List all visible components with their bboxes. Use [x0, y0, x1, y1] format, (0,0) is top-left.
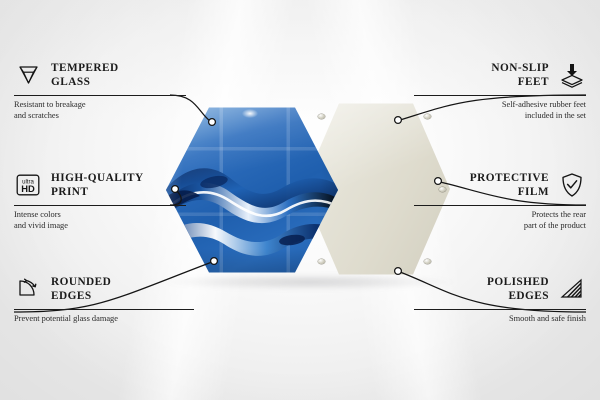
feature-divider	[414, 95, 586, 96]
shield-check-icon	[558, 171, 586, 199]
feature-title: HIGH-QUALITYPRINT	[51, 171, 144, 200]
mount-hole	[424, 259, 431, 264]
feature-title: TEMPEREDGLASS	[51, 61, 119, 90]
svg-text:HD: HD	[21, 183, 35, 194]
feature-description: Resistant to breakageand scratches	[14, 99, 186, 122]
diamond-icon	[14, 61, 42, 89]
feature-high-quality-print[interactable]: ultra HD HIGH-QUALITYPRINT Intense color…	[14, 168, 186, 232]
stacked-pads-arrow-icon	[558, 61, 586, 89]
feature-tempered-glass[interactable]: TEMPEREDGLASS Resistant to breakageand s…	[14, 58, 186, 122]
feature-divider	[14, 205, 186, 206]
feature-title: NON-SLIPFEET	[491, 61, 549, 90]
feature-polished-edges[interactable]: POLISHEDEDGES Smooth and safe finish	[414, 272, 586, 324]
feature-title: POLISHEDEDGES	[487, 275, 549, 304]
feature-description: Intense colorsand vivid image	[14, 209, 186, 232]
feature-title: PROTECTIVEFILM	[470, 171, 549, 200]
ultra-hd-badge-icon: ultra HD	[14, 171, 42, 199]
feature-description: Smooth and safe finish	[414, 313, 586, 324]
feature-header: ultra HD HIGH-QUALITYPRINT	[14, 168, 186, 202]
feature-header: PROTECTIVEFILM	[414, 168, 586, 202]
feature-divider	[14, 309, 194, 310]
feature-header: TEMPEREDGLASS	[14, 58, 186, 92]
hatched-triangle-icon	[558, 275, 586, 303]
feature-description: Protects the rearpart of the product	[414, 209, 586, 232]
rounded-corner-icon	[14, 275, 42, 303]
feature-header: POLISHEDEDGES	[414, 272, 586, 306]
feature-divider	[414, 205, 586, 206]
glass-specular-hotspot	[242, 109, 258, 118]
feature-non-slip-feet[interactable]: NON-SLIPFEET Self-adhesive rubber feetin…	[414, 58, 586, 122]
infographic-canvas: TEMPEREDGLASS Resistant to breakageand s…	[0, 0, 600, 400]
feature-header: NON-SLIPFEET	[414, 58, 586, 92]
feature-title: ROUNDEDEDGES	[51, 275, 111, 304]
feature-protective-film[interactable]: PROTECTIVEFILM Protects the rearpart of …	[414, 168, 586, 232]
feature-header: ROUNDEDEDGES	[14, 272, 194, 306]
feature-description: Self-adhesive rubber feetincluded in the…	[414, 99, 586, 122]
front-glass-hexagon	[166, 104, 338, 276]
feature-divider	[14, 95, 186, 96]
glass-edge-shading	[166, 104, 338, 276]
feature-description: Prevent potential glass damage	[14, 313, 194, 324]
glass-surface	[166, 104, 338, 276]
feature-rounded-edges[interactable]: ROUNDEDEDGES Prevent potential glass dam…	[14, 272, 194, 324]
feature-divider	[414, 309, 586, 310]
